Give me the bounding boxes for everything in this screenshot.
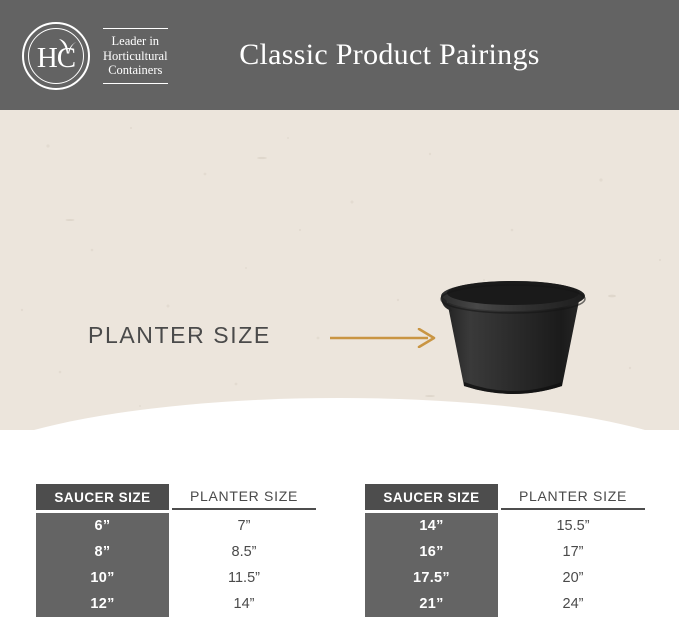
table-cell: 7”	[172, 513, 316, 539]
column-saucer-size: 14” 16” 17.5” 21”	[365, 513, 498, 617]
table-body: 14” 16” 17.5” 21” 15.5” 17” 20” 24”	[365, 513, 645, 617]
table-cell: 11.5”	[172, 565, 316, 591]
table-cell: 15.5”	[501, 513, 645, 539]
table-cell: 12”	[36, 591, 169, 617]
column-planter-size: 7” 8.5” 11.5” 14”	[172, 513, 316, 617]
column-header-saucer-size: SAUCER SIZE	[365, 484, 498, 510]
table-body: 6” 8” 10” 12” 7” 8.5” 11.5” 14”	[36, 513, 316, 617]
table-cell: 6”	[36, 513, 169, 539]
logo-rule-bottom	[103, 83, 168, 84]
table-header-row: SAUCER SIZE PLANTER SIZE	[36, 484, 316, 510]
table-cell: 14”	[172, 591, 316, 617]
diagram-panel: PLANTER SIZE SAUCER SIZE	[0, 110, 679, 430]
table-cell: 16”	[365, 539, 498, 565]
column-header-planter-size: PLANTER SIZE	[501, 484, 645, 510]
table-header-row: SAUCER SIZE PLANTER SIZE	[365, 484, 645, 510]
table-cell: 8.5”	[172, 539, 316, 565]
table-cell: 17”	[501, 539, 645, 565]
logo-rule-top	[103, 28, 168, 29]
table-cell: 8”	[36, 539, 169, 565]
column-planter-size: 15.5” 17” 20” 24”	[501, 513, 645, 617]
brand-logo: HC Leader in Horticultural Containers	[22, 21, 168, 91]
table-cell: 21”	[365, 591, 498, 617]
column-header-saucer-size: SAUCER SIZE	[36, 484, 169, 510]
column-header-planter-size: PLANTER SIZE	[172, 484, 316, 510]
table-cell: 24”	[501, 591, 645, 617]
logo-tagline-line-3: Containers	[103, 63, 168, 78]
size-table-large: SAUCER SIZE PLANTER SIZE 14” 16” 17.5” 2…	[365, 484, 645, 617]
planter-arrow-icon	[330, 328, 438, 348]
size-tables-section: SAUCER SIZE PLANTER SIZE 6” 8” 10” 12” 7…	[0, 430, 679, 636]
logo-tagline-line-2: Horticultural	[103, 49, 168, 64]
table-cell: 10”	[36, 565, 169, 591]
planter-size-label: PLANTER SIZE	[88, 322, 271, 349]
table-cell: 20”	[501, 565, 645, 591]
logo-tagline-line-1: Leader in	[103, 34, 168, 49]
logo-badge-icon: HC	[22, 22, 90, 90]
planter-pot-image	[438, 278, 588, 406]
table-cell: 14”	[365, 513, 498, 539]
page-header: HC Leader in Horticultural Containers Cl…	[0, 0, 679, 110]
logo-tagline: Leader in Horticultural Containers	[103, 21, 168, 91]
column-saucer-size: 6” 8” 10” 12”	[36, 513, 169, 617]
table-cell: 17.5”	[365, 565, 498, 591]
size-table-small: SAUCER SIZE PLANTER SIZE 6” 8” 10” 12” 7…	[36, 484, 316, 617]
leaf-icon	[57, 37, 79, 55]
